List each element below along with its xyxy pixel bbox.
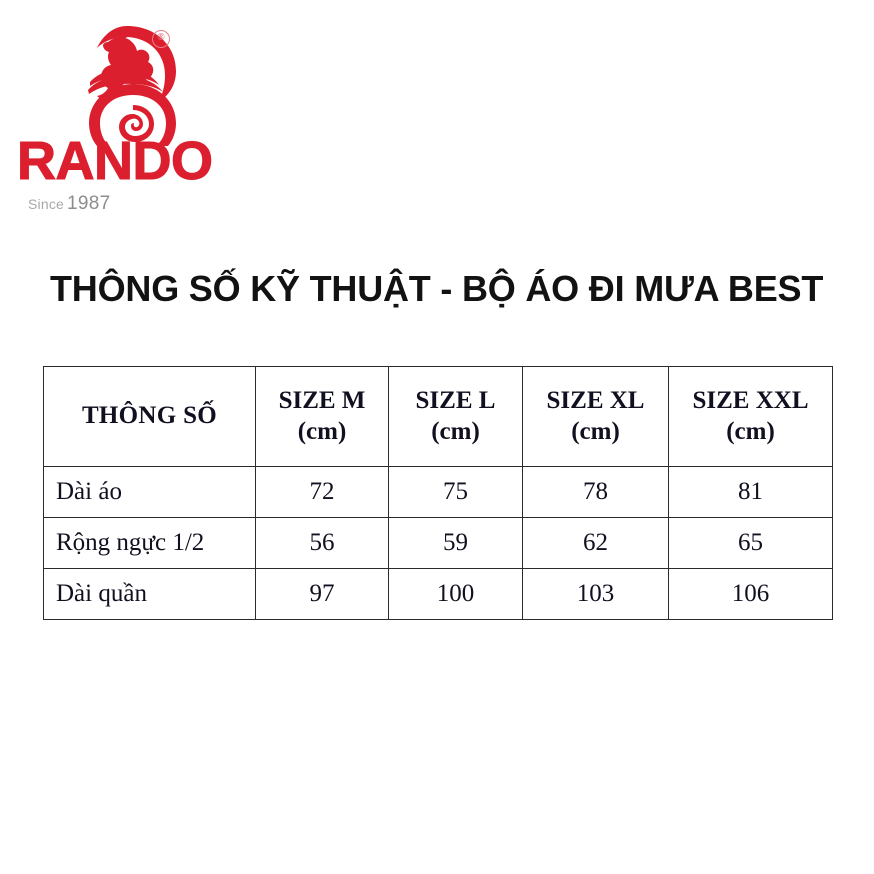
header-label: SIZE XXL <box>692 387 808 414</box>
header-cell-size-m: SIZE M (cm) <box>256 367 389 467</box>
header-unit: (cm) <box>390 417 521 448</box>
table-row: Dài quần 97 100 103 106 <box>44 569 833 620</box>
cell-size-l: 100 <box>389 569 523 620</box>
table-row: Rộng ngực 1/2 56 59 62 65 <box>44 518 833 569</box>
cell-size-xl: 62 <box>523 518 669 569</box>
cell-size-m: 72 <box>256 467 389 518</box>
spec-table-container: THÔNG SỐ SIZE M (cm) SIZE L (cm) SIZE XL… <box>43 366 832 620</box>
cell-size-l: 75 <box>389 467 523 518</box>
row-label: Dài áo <box>44 467 256 518</box>
header-cell-size-l: SIZE L (cm) <box>389 367 523 467</box>
cell-size-xxl: 81 <box>669 467 833 518</box>
header-unit: (cm) <box>257 417 387 448</box>
cell-size-m: 97 <box>256 569 389 620</box>
cell-size-xl: 78 <box>523 467 669 518</box>
tagline-since-text: Since <box>28 196 64 212</box>
registered-trademark-icon: ® <box>152 30 170 48</box>
cell-size-xxl: 106 <box>669 569 833 620</box>
header-label: SIZE XL <box>547 387 645 414</box>
header-cell-parameter: THÔNG SỐ <box>44 367 256 467</box>
table-row: Dài áo 72 75 78 81 <box>44 467 833 518</box>
header-cell-size-xxl: SIZE XXL (cm) <box>669 367 833 467</box>
rando-horse-logo-icon <box>64 22 189 147</box>
header-label: SIZE M <box>279 387 366 414</box>
specification-table: THÔNG SỐ SIZE M (cm) SIZE L (cm) SIZE XL… <box>43 366 833 620</box>
header-label: SIZE L <box>416 387 496 414</box>
cell-size-xxl: 65 <box>669 518 833 569</box>
brand-tagline: Since1987 <box>28 194 111 213</box>
table-header-row: THÔNG SỐ SIZE M (cm) SIZE L (cm) SIZE XL… <box>44 367 833 467</box>
page-title: THÔNG SỐ KỸ THUẬT - BỘ ÁO ĐI MƯA BEST <box>50 269 823 309</box>
header-unit: (cm) <box>524 417 667 448</box>
brand-wordmark: RANDO <box>17 134 213 188</box>
header-unit: (cm) <box>670 417 831 448</box>
tagline-year-text: 1987 <box>67 193 110 214</box>
row-label: Rộng ngực 1/2 <box>44 518 256 569</box>
cell-size-m: 56 <box>256 518 389 569</box>
cell-size-xl: 103 <box>523 569 669 620</box>
row-label: Dài quần <box>44 569 256 620</box>
cell-size-l: 59 <box>389 518 523 569</box>
brand-logo-block: ® RANDO Since1987 <box>14 22 244 222</box>
header-cell-size-xl: SIZE XL (cm) <box>523 367 669 467</box>
header-label: THÔNG SỐ <box>82 402 217 429</box>
